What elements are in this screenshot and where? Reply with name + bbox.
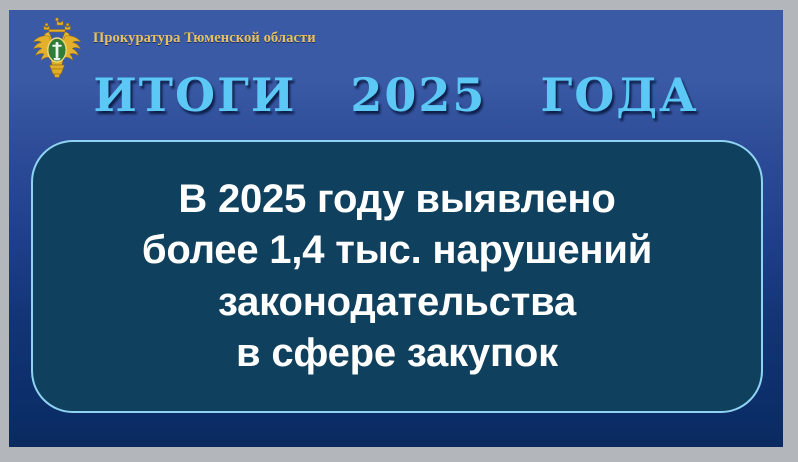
statistic-line-3: законодательства [57,277,737,328]
slide-headline: ИТОГИ 2025 ГОДА [9,72,783,118]
russian-prosecutor-eagle-emblem-icon [29,16,85,80]
presentation-slide: Прокуратура Тюменской области ИТОГИ 2025… [9,10,783,447]
statistic-line-4: в сфере закупок [57,328,737,379]
statistic-panel-text: В 2025 году выявлено более 1,4 тыс. нару… [33,174,761,379]
organization-name: Прокуратура Тюменской области [93,30,316,47]
slide-screenshot: Прокуратура Тюменской области ИТОГИ 2025… [0,0,798,462]
statistic-panel: В 2025 году выявлено более 1,4 тыс. нару… [31,140,763,413]
statistic-line-2: более 1,4 тыс. нарушений [57,225,737,276]
statistic-line-1: В 2025 году выявлено [57,174,737,225]
